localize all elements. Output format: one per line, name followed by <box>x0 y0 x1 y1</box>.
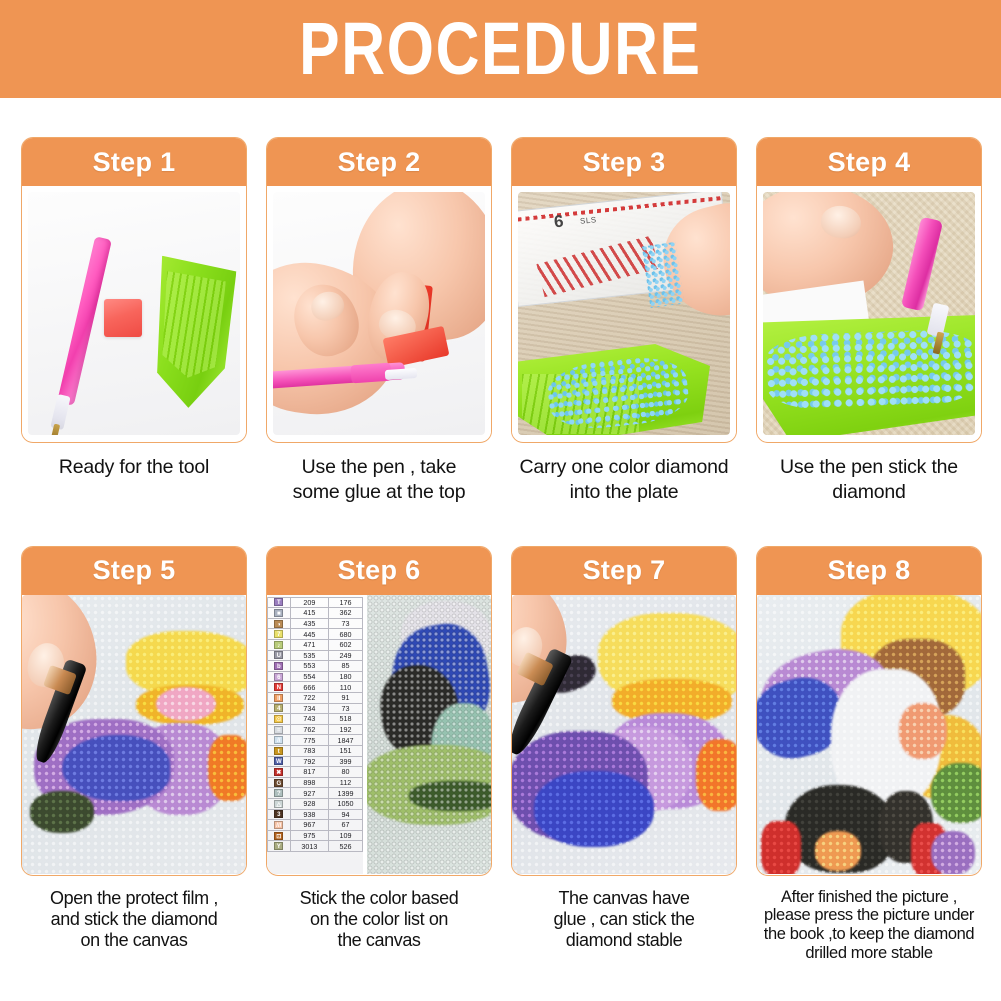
color-swatch-cell: T <box>268 597 291 608</box>
color-list-chart: T209176■415362◑435737445680♪471602U53524… <box>267 595 363 874</box>
color-swatch-cell: ? <box>268 788 291 799</box>
color-list-row: U535249 <box>268 650 363 661</box>
color-list-row: 393894 <box>268 809 363 820</box>
dmc-number-cell: 471 <box>290 640 328 651</box>
count-cell: 73 <box>329 618 363 629</box>
caption-line: into the plate <box>513 480 735 505</box>
count-cell: 91 <box>329 693 363 704</box>
step-5-caption: Open the protect film , and stick the di… <box>21 888 247 952</box>
color-swatch: 3 <box>274 810 283 818</box>
caption-line: Ready for the tool <box>23 455 245 480</box>
count-cell: 112 <box>329 777 363 788</box>
step-2-header-label: Step 2 <box>338 147 421 178</box>
count-cell: 362 <box>329 608 363 619</box>
count-cell: 192 <box>329 724 363 735</box>
color-swatch-cell: // <box>268 735 291 746</box>
dmc-number-cell: 762 <box>290 724 328 735</box>
dmc-number-cell: 554 <box>290 671 328 682</box>
color-swatch: ? <box>274 789 283 797</box>
color-swatch-cell: 7 <box>268 629 291 640</box>
step-8-caption: After finished the picture , please pres… <box>756 888 982 963</box>
page-banner: PROCEDURE <box>0 0 1001 98</box>
color-swatch: 6 <box>274 673 283 681</box>
count-cell: 94 <box>329 809 363 820</box>
count-cell: 399 <box>329 756 363 767</box>
step-6-image: T209176■415362◑435737445680♪471602U53524… <box>267 595 491 874</box>
bag-number-label: 6 <box>553 212 564 233</box>
color-list-row: 6554180 <box>268 671 363 682</box>
color-list-row: b55385 <box>268 661 363 672</box>
color-swatch-cell: 3 <box>268 809 291 820</box>
dmc-number-cell: 666 <box>290 682 328 693</box>
step-3-image: 6 SLS <box>518 192 730 435</box>
caption-line: glue , can stick the <box>513 909 735 930</box>
color-list-row: T209176 <box>268 597 363 608</box>
step-2-image <box>273 192 485 435</box>
diamond-canvas <box>367 595 491 874</box>
color-swatch-cell: = <box>268 724 291 735</box>
count-cell: 526 <box>329 841 363 852</box>
color-swatch-cell: II <box>268 693 291 704</box>
count-cell: 73 <box>329 703 363 714</box>
step-2-card: Step 2 <box>266 137 492 443</box>
color-swatch: b <box>274 662 283 670</box>
caption-line: Carry one color diamond <box>513 455 735 480</box>
count-cell: 1399 <box>329 788 363 799</box>
dmc-number-cell: 722 <box>290 693 328 704</box>
caption-line: drilled more stable <box>758 944 980 963</box>
dmc-number-cell: 3013 <box>290 841 328 852</box>
color-list-row: △9281050 <box>268 798 363 809</box>
step-1-body <box>22 186 246 441</box>
caption-line: After finished the picture , <box>758 888 980 907</box>
color-swatch: ✖ <box>274 768 283 776</box>
color-swatch: G <box>274 779 283 787</box>
dmc-number-cell: 792 <box>290 756 328 767</box>
caption-line: please press the picture under <box>758 906 980 925</box>
count-cell: 109 <box>329 830 363 841</box>
color-list-row: W792399 <box>268 756 363 767</box>
count-cell: 518 <box>329 714 363 725</box>
color-swatch-cell: ☉ <box>268 714 291 725</box>
color-swatch: T <box>274 598 283 606</box>
dmc-number-cell: 898 <box>290 777 328 788</box>
color-list-row: 7445680 <box>268 629 363 640</box>
color-swatch-cell: t <box>268 746 291 757</box>
color-swatch: ☉ <box>274 715 283 723</box>
step-2-body <box>267 186 491 441</box>
step-3-card: Step 3 6 SLS <box>511 137 737 443</box>
dmc-number-cell: 938 <box>290 809 328 820</box>
color-swatch-cell: ✖ <box>268 767 291 778</box>
caption-line: Open the protect film , <box>23 888 245 909</box>
step-3-caption: Carry one color diamond into the plate <box>511 455 737 506</box>
dmc-number-cell: 928 <box>290 798 328 809</box>
step-card-2: Step 2 <box>266 137 492 506</box>
dmc-number-cell: 975 <box>290 830 328 841</box>
count-cell: 1050 <box>329 798 363 809</box>
step-8-header: Step 8 <box>757 547 981 595</box>
color-list-row: G898112 <box>268 777 363 788</box>
color-swatch: ♪ <box>274 641 283 649</box>
color-swatch: // <box>274 736 283 744</box>
count-cell: 176 <box>329 597 363 608</box>
caption-line: diamond stable <box>513 930 735 951</box>
step-5-image <box>22 595 246 874</box>
step-8-image <box>757 595 981 874</box>
count-cell: 249 <box>329 650 363 661</box>
steps-grid: Step 1 <box>0 137 1001 963</box>
step-5-header: Step 5 <box>22 547 246 595</box>
step-card-8: Step 8 <box>756 546 982 963</box>
count-cell: 85 <box>329 661 363 672</box>
caption-line: diamond <box>758 480 980 505</box>
green-tray-icon <box>152 258 232 408</box>
step-4-header: Step 4 <box>757 138 981 186</box>
bag-red-print <box>536 236 659 298</box>
color-swatch-cell: b <box>268 661 291 672</box>
color-list-row: N666110 <box>268 682 363 693</box>
dmc-number-cell: 743 <box>290 714 328 725</box>
color-list-row: =762192 <box>268 724 363 735</box>
step-card-5: Step 5 <box>21 546 247 963</box>
step-4-caption: Use the pen stick the diamond <box>756 455 982 506</box>
color-swatch: = <box>274 726 283 734</box>
dmc-number-cell: 209 <box>290 597 328 608</box>
step-2-caption: Use the pen , take some glue at the top <box>266 455 492 506</box>
step-3-body: 6 SLS <box>512 186 736 441</box>
count-cell: 151 <box>329 746 363 757</box>
step-7-body <box>512 595 736 874</box>
color-list-row: ///96767 <box>268 820 363 831</box>
step-card-4: Step 4 <box>756 137 982 506</box>
color-list-row: ◑43573 <box>268 618 363 629</box>
step-6-header: Step 6 <box>267 547 491 595</box>
color-list-row: ⊡975109 <box>268 830 363 841</box>
step-4-body <box>757 186 981 441</box>
dmc-number-cell: 535 <box>290 650 328 661</box>
color-swatch-cell: ■ <box>268 608 291 619</box>
caption-line: the book ,to keep the diamond <box>758 925 980 944</box>
caption-line: and stick the diamond <box>23 909 245 930</box>
step-2-header: Step 2 <box>267 138 491 186</box>
page-title: PROCEDURE <box>299 12 701 86</box>
color-swatch-cell: W <box>268 756 291 767</box>
step-5-body <box>22 595 246 874</box>
color-list-row: Y3013526 <box>268 841 363 852</box>
color-swatch: ◑ <box>274 620 283 628</box>
step-1-header-label: Step 1 <box>93 147 176 178</box>
color-swatch: II <box>274 694 283 702</box>
step-card-1: Step 1 <box>21 137 247 506</box>
step-7-caption: The canvas have glue , can stick the dia… <box>511 888 737 952</box>
step-6-body: T209176■415362◑435737445680♪471602U53524… <box>267 595 491 874</box>
step-8-header-label: Step 8 <box>828 555 911 586</box>
step-5-header-label: Step 5 <box>93 555 176 586</box>
steps-row-bottom: Step 5 <box>0 546 1001 963</box>
caption-line: on the color list on <box>268 909 490 930</box>
dmc-number-cell: 775 <box>290 735 328 746</box>
color-swatch-cell: ⊡ <box>268 830 291 841</box>
dmc-number-cell: 445 <box>290 629 328 640</box>
color-list-table: T209176■415362◑435737445680♪471602U53524… <box>267 597 363 852</box>
color-swatch-cell: 6 <box>268 671 291 682</box>
color-swatch: N <box>274 683 283 691</box>
count-cell: 180 <box>329 671 363 682</box>
color-list-row: ♪471602 <box>268 640 363 651</box>
caption-line: some glue at the top <box>268 480 490 505</box>
dmc-number-cell: 734 <box>290 703 328 714</box>
tray-ribs <box>159 271 227 380</box>
caption-line: The canvas have <box>513 888 735 909</box>
step-4-image <box>763 192 975 435</box>
diamond-bead-texture <box>757 595 981 874</box>
color-list-row: //7751847 <box>268 735 363 746</box>
color-list-row: II72291 <box>268 693 363 704</box>
color-list-row: ☉743518 <box>268 714 363 725</box>
caption-line: on the canvas <box>23 930 245 951</box>
step-7-card: Step 7 <box>511 546 737 876</box>
dmc-number-cell: 927 <box>290 788 328 799</box>
color-swatch: W <box>274 757 283 765</box>
step-1-card: Step 1 <box>21 137 247 443</box>
color-swatch-cell: △ <box>268 798 291 809</box>
step-6-card: Step 6 T209176■415362◑435737445680♪47160… <box>266 546 492 876</box>
count-cell: 67 <box>329 820 363 831</box>
color-swatch: /// <box>274 821 283 829</box>
tray-shape <box>147 255 237 410</box>
bag-sub-label: SLS <box>580 215 597 225</box>
step-3-header-label: Step 3 <box>583 147 666 178</box>
color-swatch: 4 <box>274 704 283 712</box>
color-swatch-cell: 4 <box>268 703 291 714</box>
color-list-row: 473473 <box>268 703 363 714</box>
color-list-row: ■415362 <box>268 608 363 619</box>
blue-diamonds-icon <box>766 328 975 411</box>
dmc-number-cell: 553 <box>290 661 328 672</box>
caption-line: Use the pen , take <box>268 455 490 480</box>
count-cell: 80 <box>329 767 363 778</box>
caption-line: Use the pen stick the <box>758 455 980 480</box>
color-swatch-cell: ◑ <box>268 618 291 629</box>
glue-square-icon <box>104 299 142 337</box>
diamond-bead-texture <box>367 595 491 874</box>
steps-row-top: Step 1 <box>0 137 1001 506</box>
color-swatch: △ <box>274 800 283 808</box>
step-8-card: Step 8 <box>756 546 982 876</box>
count-cell: 110 <box>329 682 363 693</box>
color-swatch-cell: /// <box>268 820 291 831</box>
color-swatch: t <box>274 747 283 755</box>
color-swatch: ⊡ <box>274 832 283 840</box>
caption-line: the canvas <box>268 930 490 951</box>
dmc-number-cell: 435 <box>290 618 328 629</box>
step-7-header-label: Step 7 <box>583 555 666 586</box>
dmc-number-cell: 967 <box>290 820 328 831</box>
color-list-row: t783151 <box>268 746 363 757</box>
count-cell: 1847 <box>329 735 363 746</box>
step-4-header-label: Step 4 <box>828 147 911 178</box>
step-7-image <box>512 595 736 874</box>
dmc-number-cell: 817 <box>290 767 328 778</box>
color-swatch-cell: N <box>268 682 291 693</box>
step-card-3: Step 3 6 SLS <box>511 137 737 506</box>
color-list-row: ✖81780 <box>268 767 363 778</box>
step-1-header: Step 1 <box>22 138 246 186</box>
color-swatch-cell: G <box>268 777 291 788</box>
step-4-card: Step 4 <box>756 137 982 443</box>
dmc-number-cell: 783 <box>290 746 328 757</box>
step-1-caption: Ready for the tool <box>21 455 247 480</box>
step-3-header: Step 3 <box>512 138 736 186</box>
color-swatch: Y <box>274 842 283 850</box>
caption-line: Stick the color based <box>268 888 490 909</box>
step-7-header: Step 7 <box>512 547 736 595</box>
color-swatch-cell: Y <box>268 841 291 852</box>
color-swatch: ■ <box>274 609 283 617</box>
step-6-caption: Stick the color based on the color list … <box>266 888 492 952</box>
step-1-image <box>28 192 240 435</box>
color-swatch: U <box>274 651 283 659</box>
step-card-7: Step 7 <box>511 546 737 963</box>
count-cell: 680 <box>329 629 363 640</box>
dmc-number-cell: 415 <box>290 608 328 619</box>
color-swatch-cell: ♪ <box>268 640 291 651</box>
step-card-6: Step 6 T209176■415362◑435737445680♪47160… <box>266 546 492 963</box>
color-swatch: 7 <box>274 630 283 638</box>
step-5-card: Step 5 <box>21 546 247 876</box>
color-list-row: ?9271399 <box>268 788 363 799</box>
count-cell: 602 <box>329 640 363 651</box>
step-8-body <box>757 595 981 874</box>
step-6-header-label: Step 6 <box>338 555 421 586</box>
color-swatch-cell: U <box>268 650 291 661</box>
